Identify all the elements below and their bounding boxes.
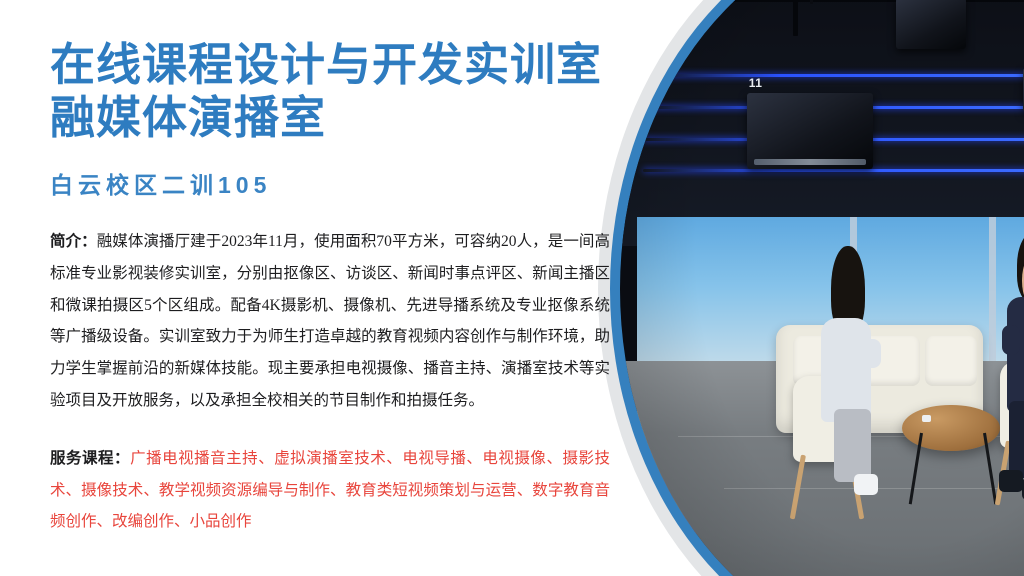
guest-legs — [1009, 401, 1024, 478]
studio-light-11: 11 — [747, 93, 874, 169]
intro-paragraph: 简介：融媒体演播厅建于2023年11月，使用面积70平方米，可容纳20人，是一间… — [50, 200, 610, 417]
studio-photo: 11 16 17 — [598, 0, 1024, 576]
chair-leg — [790, 455, 806, 520]
interviewer-torso — [821, 318, 871, 422]
courses-label: 服务课程： — [50, 450, 130, 467]
chair-leg — [995, 440, 1011, 505]
intro-label: 简介： — [50, 233, 97, 250]
truss-bar — [954, 0, 959, 23]
interviewer — [810, 246, 891, 506]
cityscape-graphic — [637, 395, 1024, 535]
page-title: 在线课程设计与开发实训室 融媒体演播室 — [50, 0, 650, 144]
intro-body: 融媒体演播厅建于2023年11月，使用面积70平方米，可容纳20人，是一间高标准… — [50, 233, 610, 409]
chair-leg — [848, 455, 864, 520]
chair-right — [1000, 361, 1024, 448]
interviewer-arm — [860, 339, 881, 368]
waterfront-reflection — [637, 498, 1024, 534]
photo-disc: 11 16 17 — [620, 0, 1024, 576]
guest-hair — [1017, 231, 1024, 302]
truss-bar — [666, 0, 670, 61]
hanging-cable — [810, 0, 813, 4]
interviewer-legs — [834, 409, 871, 482]
coffee-table — [902, 405, 1000, 452]
courses-paragraph: 服务课程：广播电视播音主持、虚拟演播室技术、电视导播、电视摄像、摄影技术、摄像技… — [50, 417, 610, 538]
guest-shoe — [999, 470, 1023, 492]
guest-arm — [1002, 325, 1020, 355]
truss-bar — [666, 0, 1024, 2]
studio-scene: 11 16 17 — [620, 0, 1024, 576]
text-column: 在线课程设计与开发实训室 融媒体演播室 白云校区二训105 简介：融媒体演播厅建… — [50, 0, 650, 576]
led-strip — [643, 138, 1024, 141]
location-subtitle: 白云校区二训105 — [50, 144, 650, 200]
hanging-cable — [920, 0, 923, 11]
led-strip — [643, 106, 1024, 109]
led-strip — [643, 169, 1024, 172]
chair-left — [793, 376, 856, 463]
guest — [994, 231, 1024, 505]
table-cup — [922, 415, 931, 422]
lamp-lens — [754, 159, 866, 165]
photo-blue-ring — [610, 0, 1024, 576]
studio-light-16: 16 — [896, 0, 965, 49]
interviewer-ponytail — [842, 313, 855, 422]
lamp-number-label: 11 — [749, 76, 763, 90]
table-leg — [983, 433, 997, 505]
studio-floor — [620, 361, 1024, 576]
photo-outer-ring — [598, 0, 1024, 576]
slide-root: 11 16 17 — [0, 0, 1024, 576]
led-strip — [643, 74, 1024, 77]
truss-bar — [793, 0, 798, 36]
wall-seam — [989, 217, 996, 535]
table-leg — [908, 433, 922, 505]
led-video-wall — [637, 217, 1024, 535]
photo-vignette — [620, 0, 1024, 576]
ceiling-area: 11 16 17 — [620, 0, 1024, 246]
guest-torso — [1007, 297, 1024, 412]
sofa-cushion — [862, 336, 920, 387]
courses-list: 广播电视播音主持、虚拟演播室技术、电视导播、电视摄像、摄影技术、摄像技术、教学视… — [50, 450, 610, 531]
interviewer-shoe — [854, 474, 878, 495]
sofa-cushion — [793, 336, 851, 387]
sofa-cushion — [925, 336, 977, 387]
interviewer-hair — [831, 246, 865, 334]
wall-seam — [850, 217, 857, 535]
sofa — [776, 325, 983, 433]
